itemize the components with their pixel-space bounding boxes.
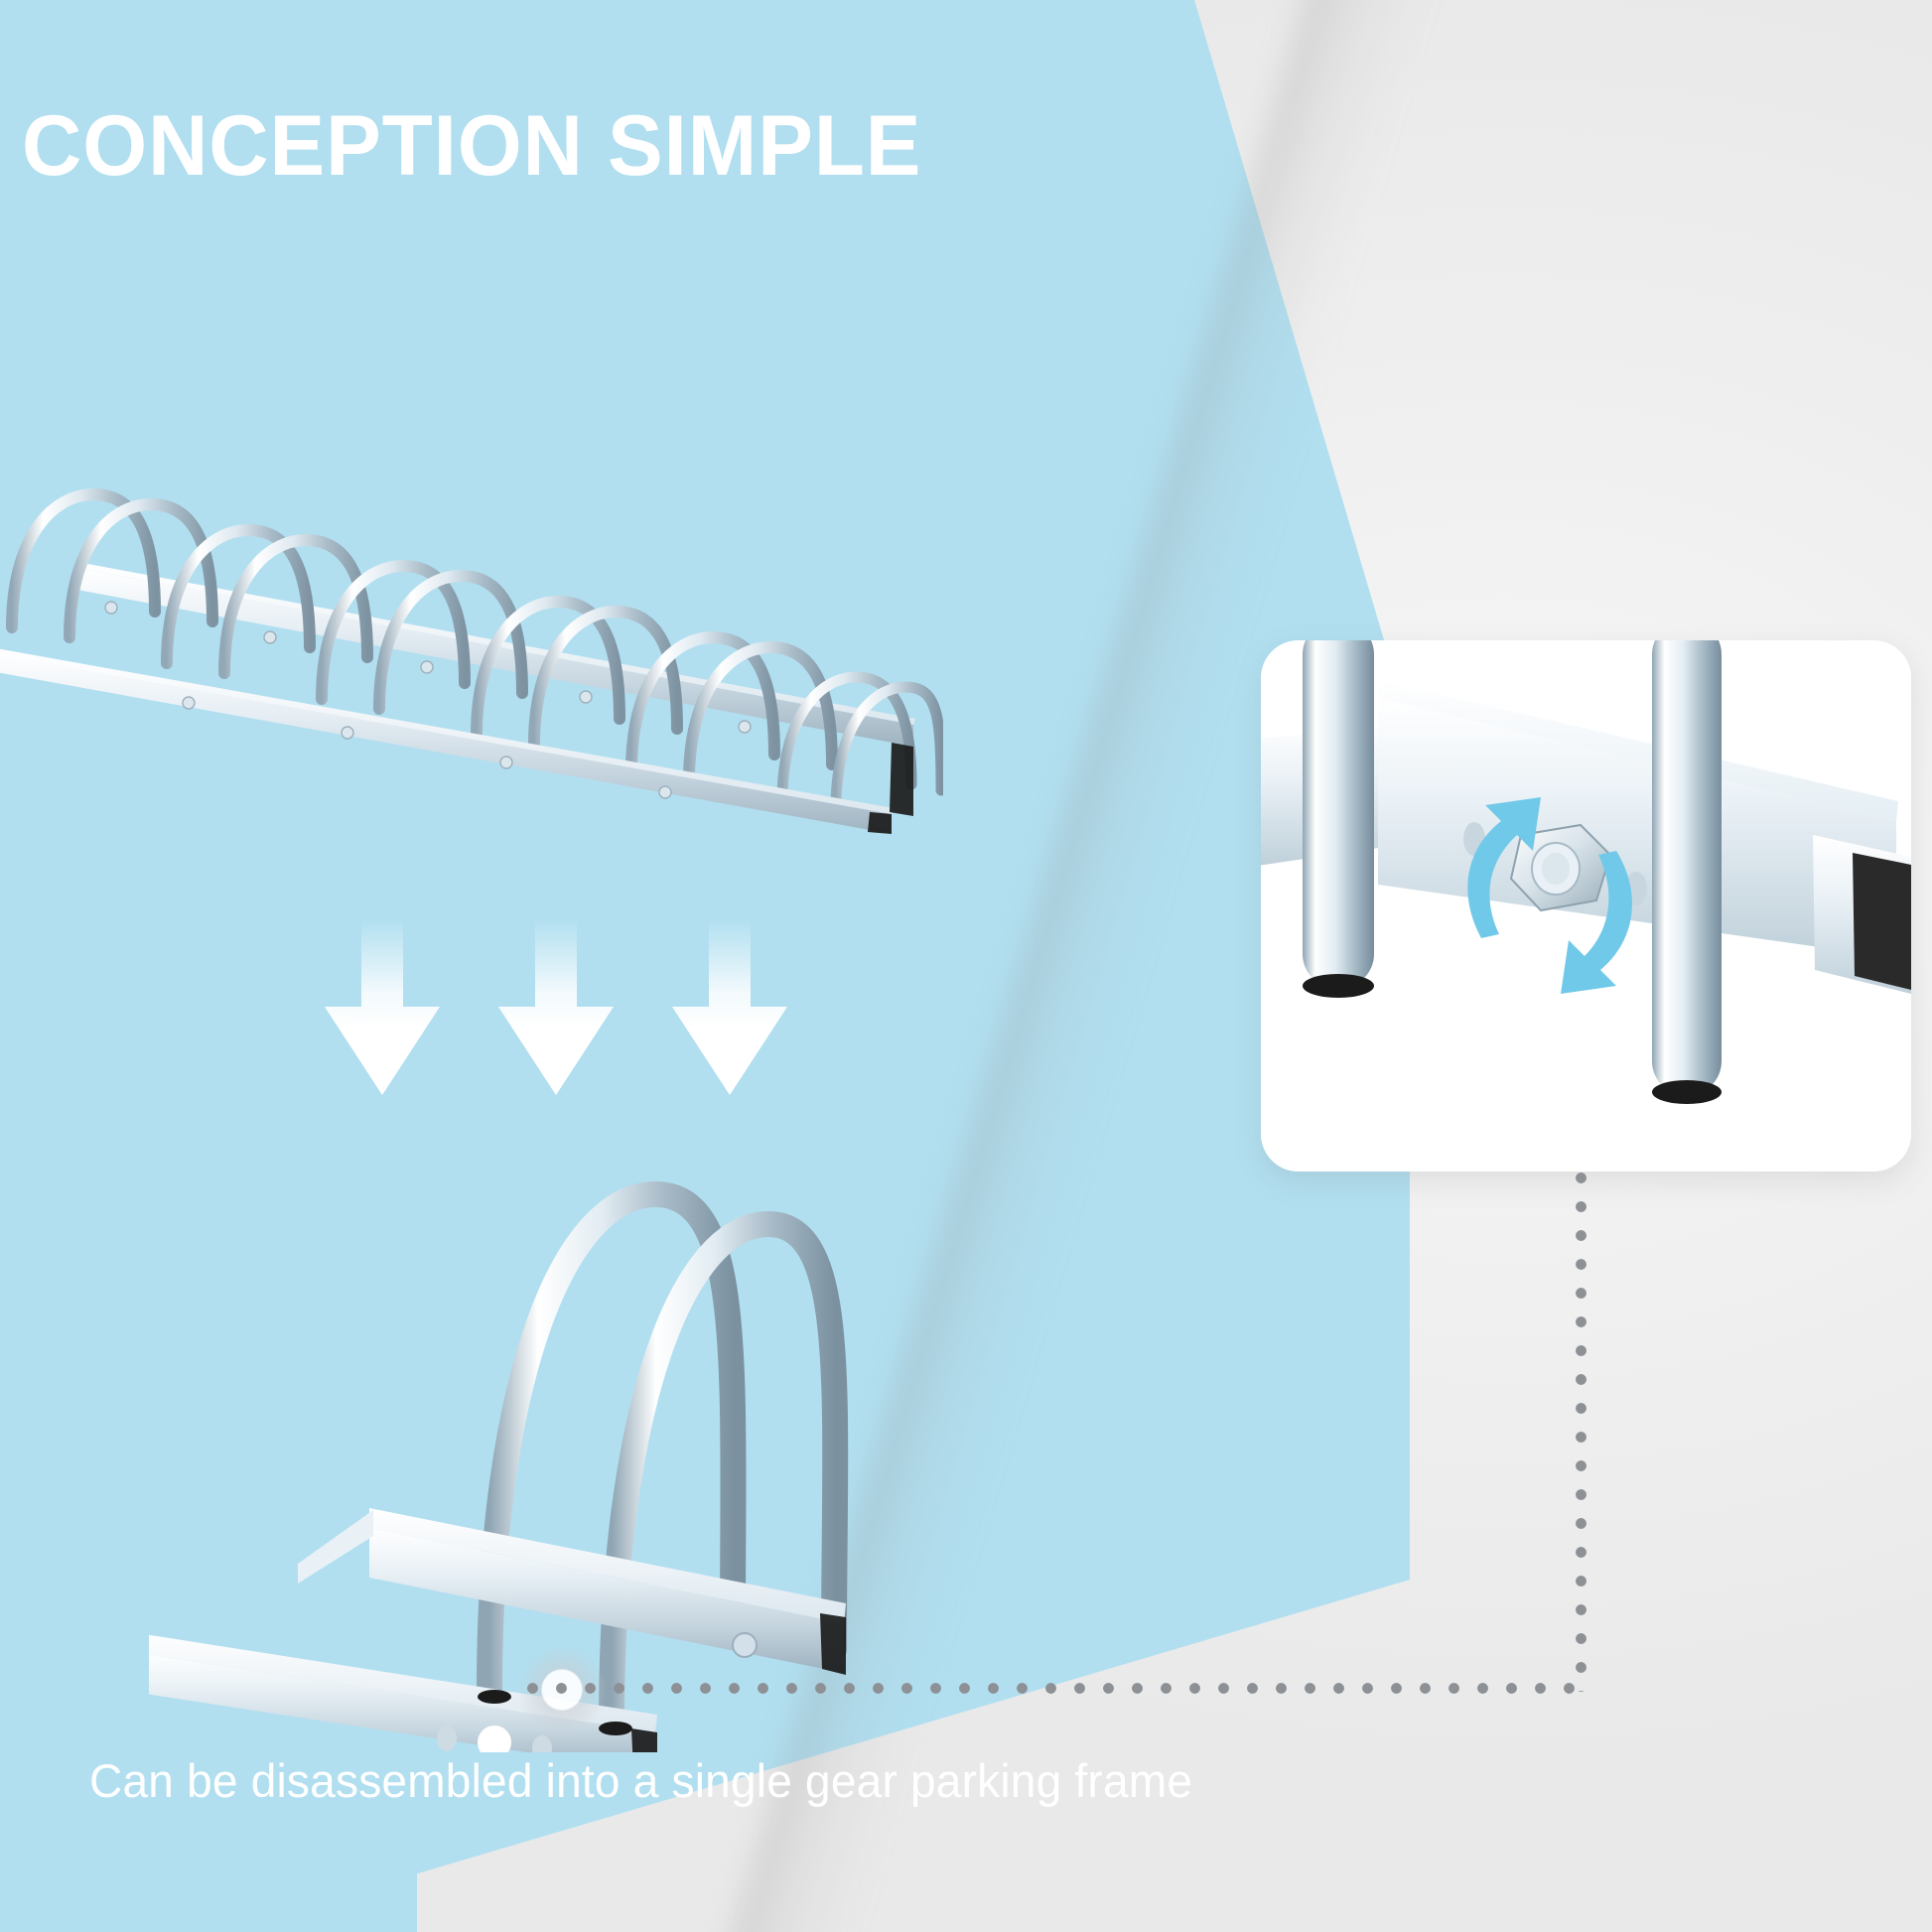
page-title: CONCEPTION SIMPLE: [22, 103, 985, 189]
down-arrow-icon: [672, 919, 787, 1095]
detail-callout-card: [1261, 640, 1911, 1172]
detail-end-cap: [1813, 835, 1911, 994]
down-arrow-icon: [498, 919, 614, 1095]
rubber-end-caps: [868, 743, 913, 834]
infographic-canvas: CONCEPTION SIMPLE: [0, 0, 1932, 1932]
down-arrows-group: [278, 892, 794, 1150]
multi-slot-rack-image: [0, 417, 943, 834]
bolt-hole-highlight: [516, 1644, 608, 1735]
caption-text: Can be disassembled into a single gear p…: [89, 1753, 1192, 1808]
down-arrow-icon: [325, 919, 440, 1095]
detail-left-tube: [1303, 640, 1374, 998]
detail-right-tube: [1652, 640, 1722, 1104]
